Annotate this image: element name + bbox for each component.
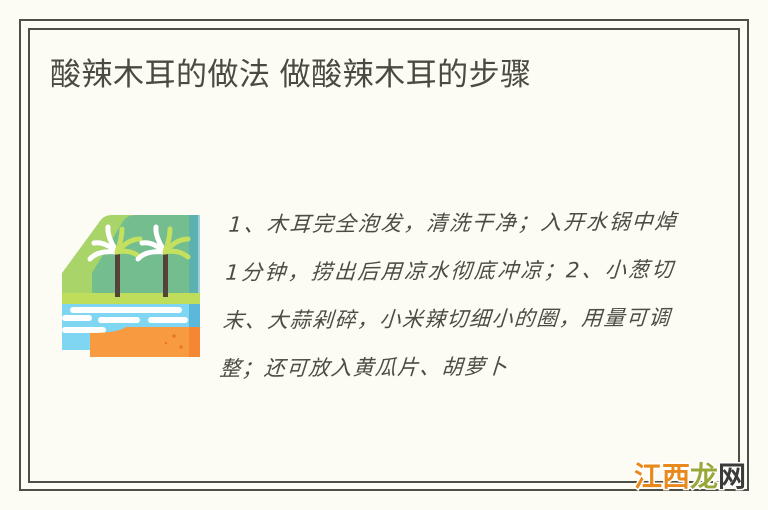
site-watermark: 江 西 龙 网 — [634, 458, 746, 496]
article-body-text: 1、木耳完全泡发，清洗干净；入开水锅中焯1分钟，捞出后用凉水彻底冲凉；2、小葱切… — [38, 198, 678, 394]
article-body-block: 热带海滩椰树插图 — [50, 202, 678, 394]
watermark-char-1: 江 — [634, 458, 662, 496]
page-title: 酸辣木耳的做法 做酸辣木耳的步骤 — [50, 52, 650, 98]
watermark-char-2: 西 — [662, 458, 690, 496]
watermark-char-3: 龙 — [690, 458, 718, 496]
watermark-char-4: 网 — [718, 458, 746, 496]
article-content: 酸辣木耳的做法 做酸辣木耳的步骤 热带海滩椰树插图 — [50, 52, 678, 460]
article-page: 酸辣木耳的做法 做酸辣木耳的步骤 热带海滩椰树插图 — [0, 0, 768, 510]
